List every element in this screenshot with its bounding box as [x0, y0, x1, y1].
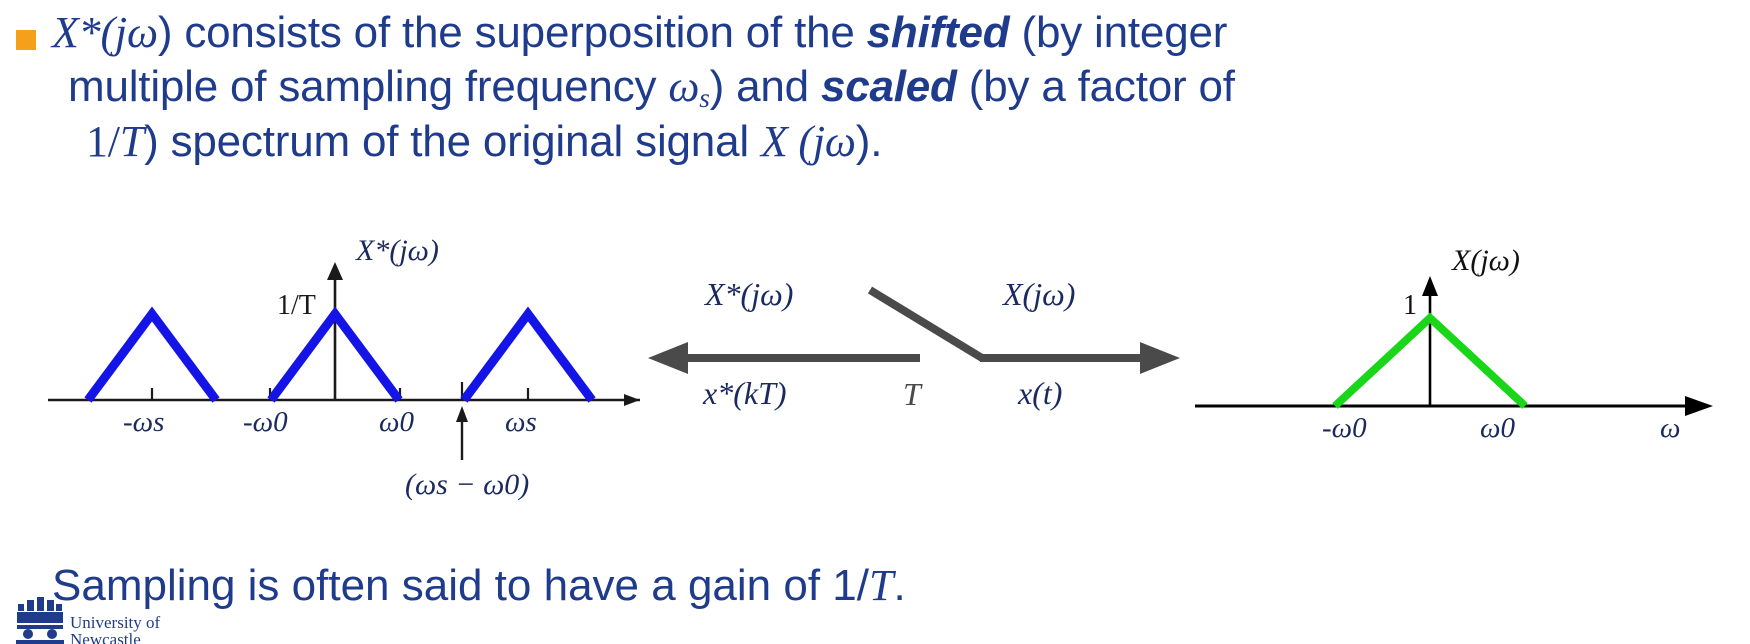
university-logo-line1: University of	[70, 614, 160, 631]
T-symbol-1: T	[120, 117, 144, 166]
sampled-xtick-label-minus-omega-s: -ωs	[123, 406, 164, 439]
slide-canvas: X*(jω) consists of the superposition of …	[0, 0, 1750, 644]
original-xtick-label-omega-0: ω0	[1480, 412, 1515, 445]
original-chart-title: X(jω)	[1452, 244, 1520, 278]
right-flow-arrow-head	[1140, 342, 1180, 374]
omega-subscript-s: s	[699, 83, 709, 113]
bullet-line3-b: ) spectrum of the original signal	[144, 117, 761, 166]
one-over-text: 1/	[86, 117, 120, 166]
sampled-peak-label: 1/T	[277, 290, 316, 322]
spectrum-replica-right	[464, 314, 592, 400]
omega-symbol-3: ω	[825, 117, 856, 166]
original-x-axis-arrowhead	[1685, 396, 1713, 416]
sampled-y-axis-arrowhead	[327, 262, 343, 280]
sampled-xtick-label-minus-omega-0: -ω0	[243, 406, 288, 439]
scaled-emphasis: scaled	[821, 62, 957, 111]
x-star-jw-text-a: X*(j	[52, 8, 127, 57]
sampled-xtick-label-omega-0: ω0	[379, 406, 414, 439]
bullet-text: X*(jω) consists of the superposition of …	[10, 6, 1740, 169]
omega-symbol-2: ω	[668, 62, 699, 111]
original-peak-label: 1	[1403, 290, 1417, 322]
shifted-emphasis: shifted	[867, 8, 1010, 57]
sampled-spectrum-chart	[20, 228, 660, 478]
middle-top-right-label: X(jω)	[1003, 276, 1075, 313]
T-symbol-2: T	[869, 561, 893, 610]
bullet-line1-c: (by integer	[1009, 8, 1227, 57]
spectrum-replica-left	[88, 314, 216, 400]
sampled-xtick-label-omega-s: ωs	[505, 406, 537, 439]
university-logo-text: University of Newcastle	[70, 614, 160, 644]
original-x-axis-label: ω	[1660, 412, 1680, 445]
university-logo-line2: Newcastle	[70, 631, 160, 644]
middle-bottom-left-label: x*(kT)	[703, 375, 787, 412]
bullet-line-1: X*(jω) consists of the superposition of …	[52, 6, 1740, 60]
bullet-line2-b: ) and	[710, 62, 821, 111]
bottom-statement-a: Sampling is often said to have a gain of…	[52, 561, 869, 610]
sampling-spectrum-figure: X*(jω) 1/T -ωs -ω0 ω0 ωs (ωs − ω0) X*(jω…	[0, 228, 1750, 558]
bullet-line2-c: (by a factor of	[957, 62, 1235, 111]
middle-bottom-right-label: x(t)	[1018, 375, 1062, 412]
sampled-chart-annotation: (ωs − ω0)	[405, 468, 529, 502]
bullet-line3-d: ).	[856, 117, 882, 166]
bullet-line1-b: ) consists of the superposition of the	[158, 8, 867, 57]
castle-crest-icon	[14, 594, 66, 644]
omega-symbol-1: ω	[127, 8, 158, 57]
signal-flow-diagram	[620, 248, 1180, 448]
bullet-paragraph: X*(jω) consists of the superposition of …	[10, 6, 1740, 169]
bottom-statement: Sampling is often said to have a gain of…	[52, 560, 906, 611]
bullet-line2-a: multiple of sampling frequency	[68, 62, 668, 111]
middle-top-left-label: X*(jω)	[705, 276, 793, 313]
sampler-switch-blade	[870, 290, 982, 358]
university-logo: University of Newcastle	[14, 592, 164, 644]
bullet-line-3: 1/T) spectrum of the original signal X (…	[52, 115, 1740, 169]
bullet-square-icon	[16, 30, 36, 50]
bottom-statement-b: .	[893, 561, 905, 610]
bullet-line3-c: (j	[788, 117, 825, 166]
sampled-chart-title: X*(jω)	[356, 234, 439, 268]
bullet-line-2: multiple of sampling frequency ωs) and s…	[52, 60, 1740, 115]
X-symbol: X	[761, 117, 788, 166]
original-xtick-label-minus-omega-0: -ω0	[1322, 412, 1367, 445]
sampler-period-label: T	[903, 376, 921, 413]
annotation-pointer-arrowhead	[456, 406, 468, 422]
original-y-axis-arrowhead	[1422, 276, 1438, 296]
